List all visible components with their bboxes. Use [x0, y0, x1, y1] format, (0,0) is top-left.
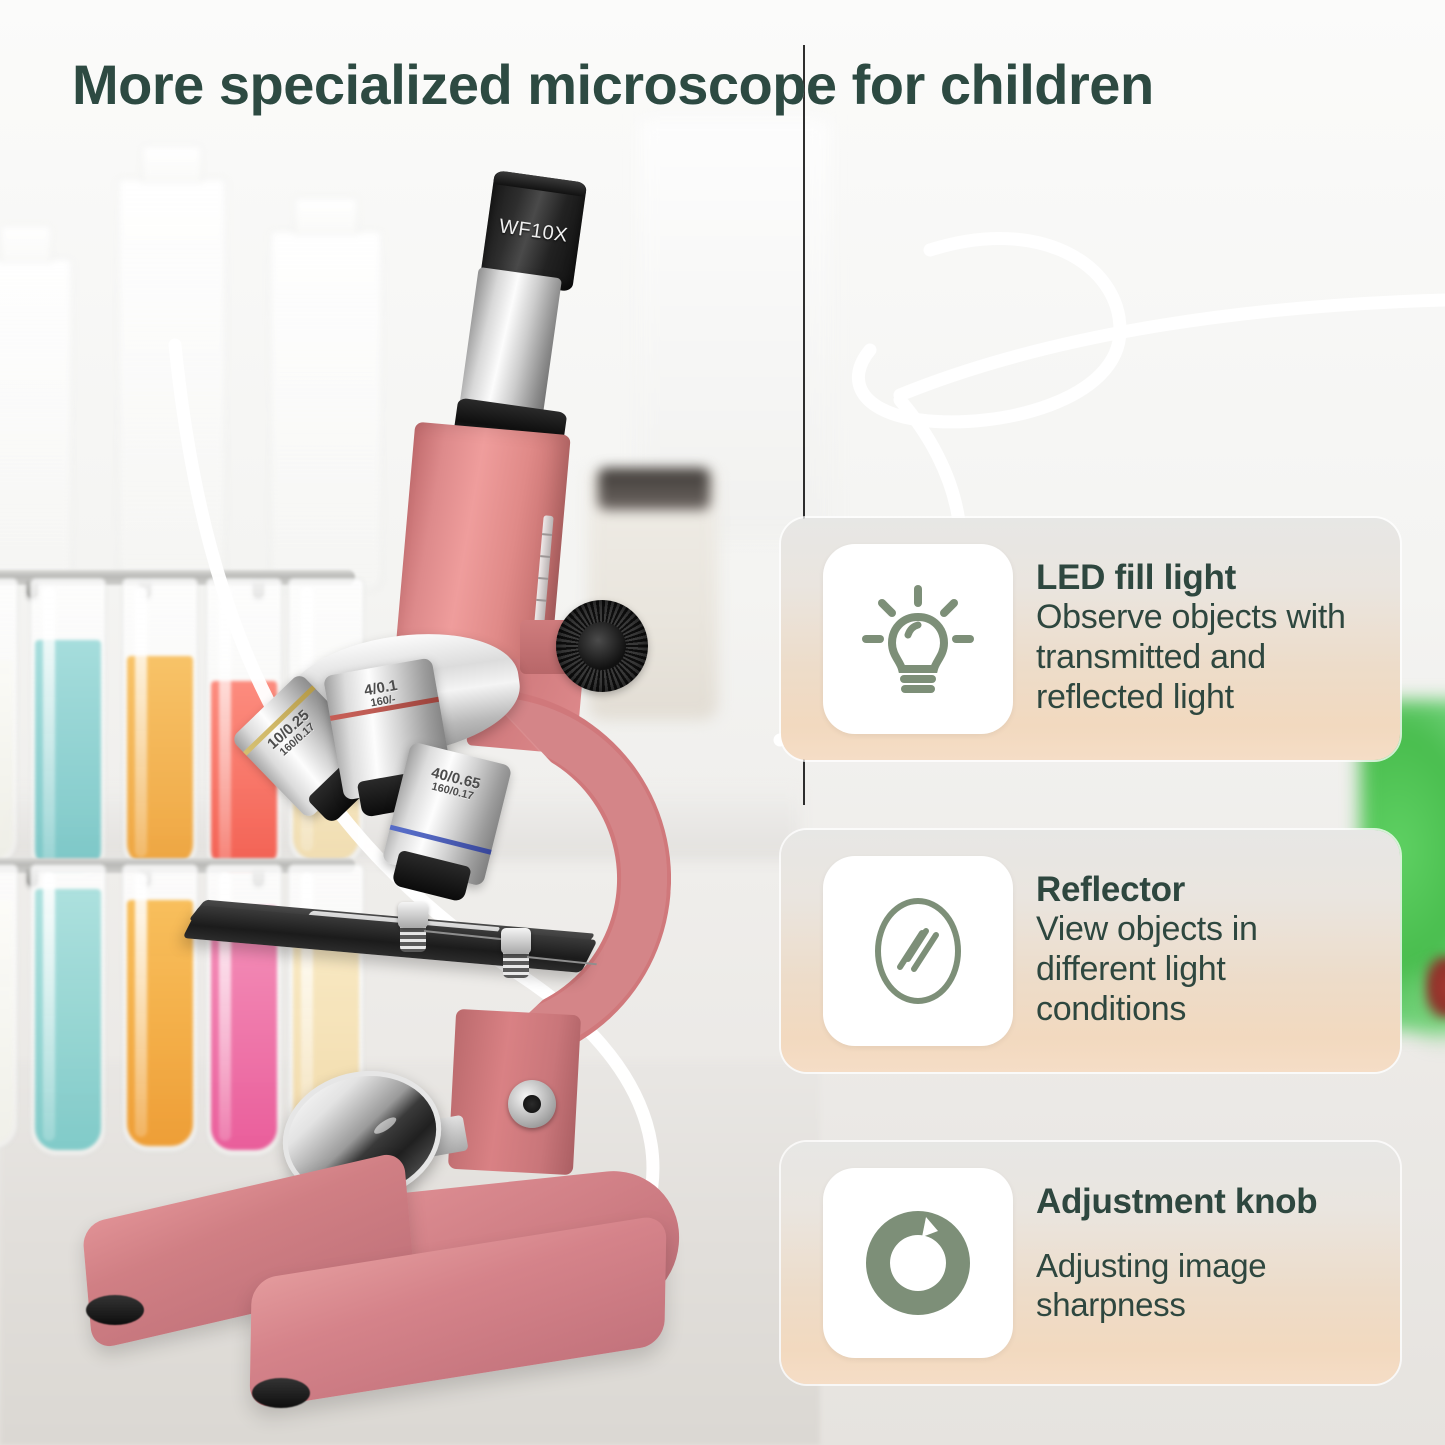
feature-heading: LED fill light: [1036, 558, 1378, 597]
feature-icon-container: [823, 1168, 1013, 1358]
feature-description: Adjusting image sharpness: [1036, 1247, 1378, 1325]
feature-description: Observe objects with transmitted and ref…: [1036, 597, 1378, 717]
feature-description: View objects in different light conditio…: [1036, 909, 1378, 1029]
feature-card-adjustment-knob[interactable]: Adjustment knob Adjusting image sharpnes…: [781, 1142, 1400, 1384]
feature-card-reflector[interactable]: Reflector View objects in different ligh…: [781, 830, 1400, 1072]
eyepiece-label: WF10X: [486, 214, 581, 250]
microscope-product: WF10X 10/0.25 160/0.17 4/0.1: [0, 0, 800, 1445]
base-foot: [86, 1295, 144, 1325]
feature-text-block: LED fill light Observe objects with tran…: [1036, 558, 1378, 718]
base-foot: [252, 1378, 310, 1408]
feature-text-block: Reflector View objects in different ligh…: [1036, 870, 1378, 1030]
feature-icon-container: [823, 856, 1013, 1046]
feature-icon-container: [823, 544, 1013, 734]
feature-text-block: Adjustment knob Adjusting image sharpnes…: [1036, 1182, 1378, 1325]
mirror-reflector-icon: [852, 885, 984, 1017]
focus-adjustment-knob: [556, 600, 648, 692]
stage-clip: [501, 928, 531, 954]
feature-card-led-fill-light[interactable]: LED fill light Observe objects with tran…: [781, 518, 1400, 760]
adjustment-knob-icon: [852, 1197, 984, 1329]
stage-clip: [398, 902, 428, 928]
tilt-pivot-screw: [508, 1080, 556, 1128]
feature-heading: Reflector: [1036, 870, 1378, 909]
feature-heading: Adjustment knob: [1036, 1182, 1378, 1221]
lightbulb-icon: [852, 573, 984, 705]
feature-card-list: LED fill light Observe objects with tran…: [781, 0, 1445, 1445]
